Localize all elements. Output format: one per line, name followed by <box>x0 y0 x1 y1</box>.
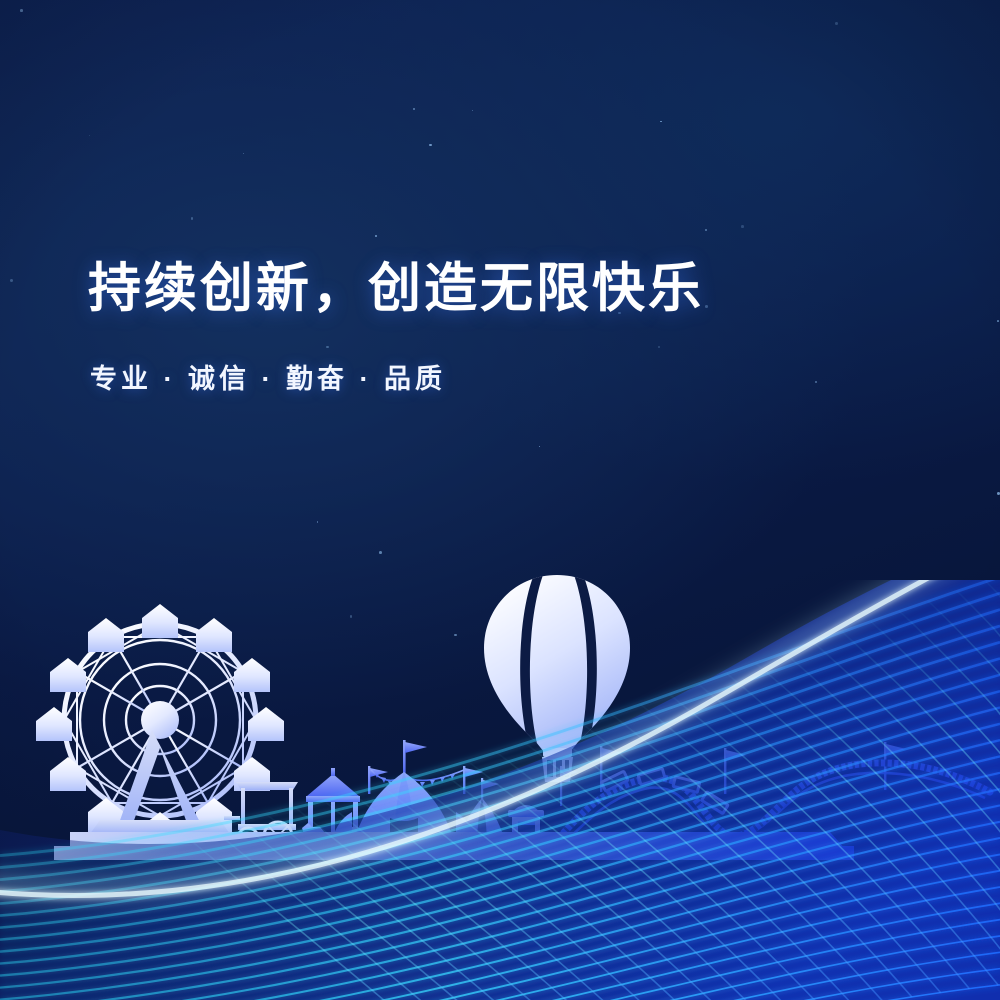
glowing-wave-mesh <box>0 580 1000 1000</box>
star-particle <box>243 153 244 154</box>
tagline: 专业 · 诚信 · 勤奋 · 品质 <box>90 357 704 396</box>
star-particle <box>815 381 817 383</box>
poster-canvas: 持续创新，创造无限快乐 专业 · 诚信 · 勤奋 · 品质 <box>0 0 1000 1000</box>
star-particle <box>997 320 999 322</box>
star-particle <box>413 108 415 110</box>
copy-block: 持续创新，创造无限快乐 专业 · 诚信 · 勤奋 · 品质 <box>88 258 704 396</box>
star-particle <box>375 235 377 237</box>
star-particle <box>835 22 838 25</box>
star-particle <box>20 9 23 12</box>
star-particle <box>705 305 708 308</box>
star-particle <box>191 217 194 220</box>
star-particle <box>89 135 90 136</box>
star-particle <box>741 225 744 228</box>
star-particle <box>660 121 662 123</box>
star-particle <box>705 229 707 231</box>
star-particle <box>429 144 432 147</box>
star-particle <box>10 279 13 282</box>
page-title: 持续创新，创造无限快乐 <box>88 258 704 319</box>
star-particle <box>472 110 473 111</box>
